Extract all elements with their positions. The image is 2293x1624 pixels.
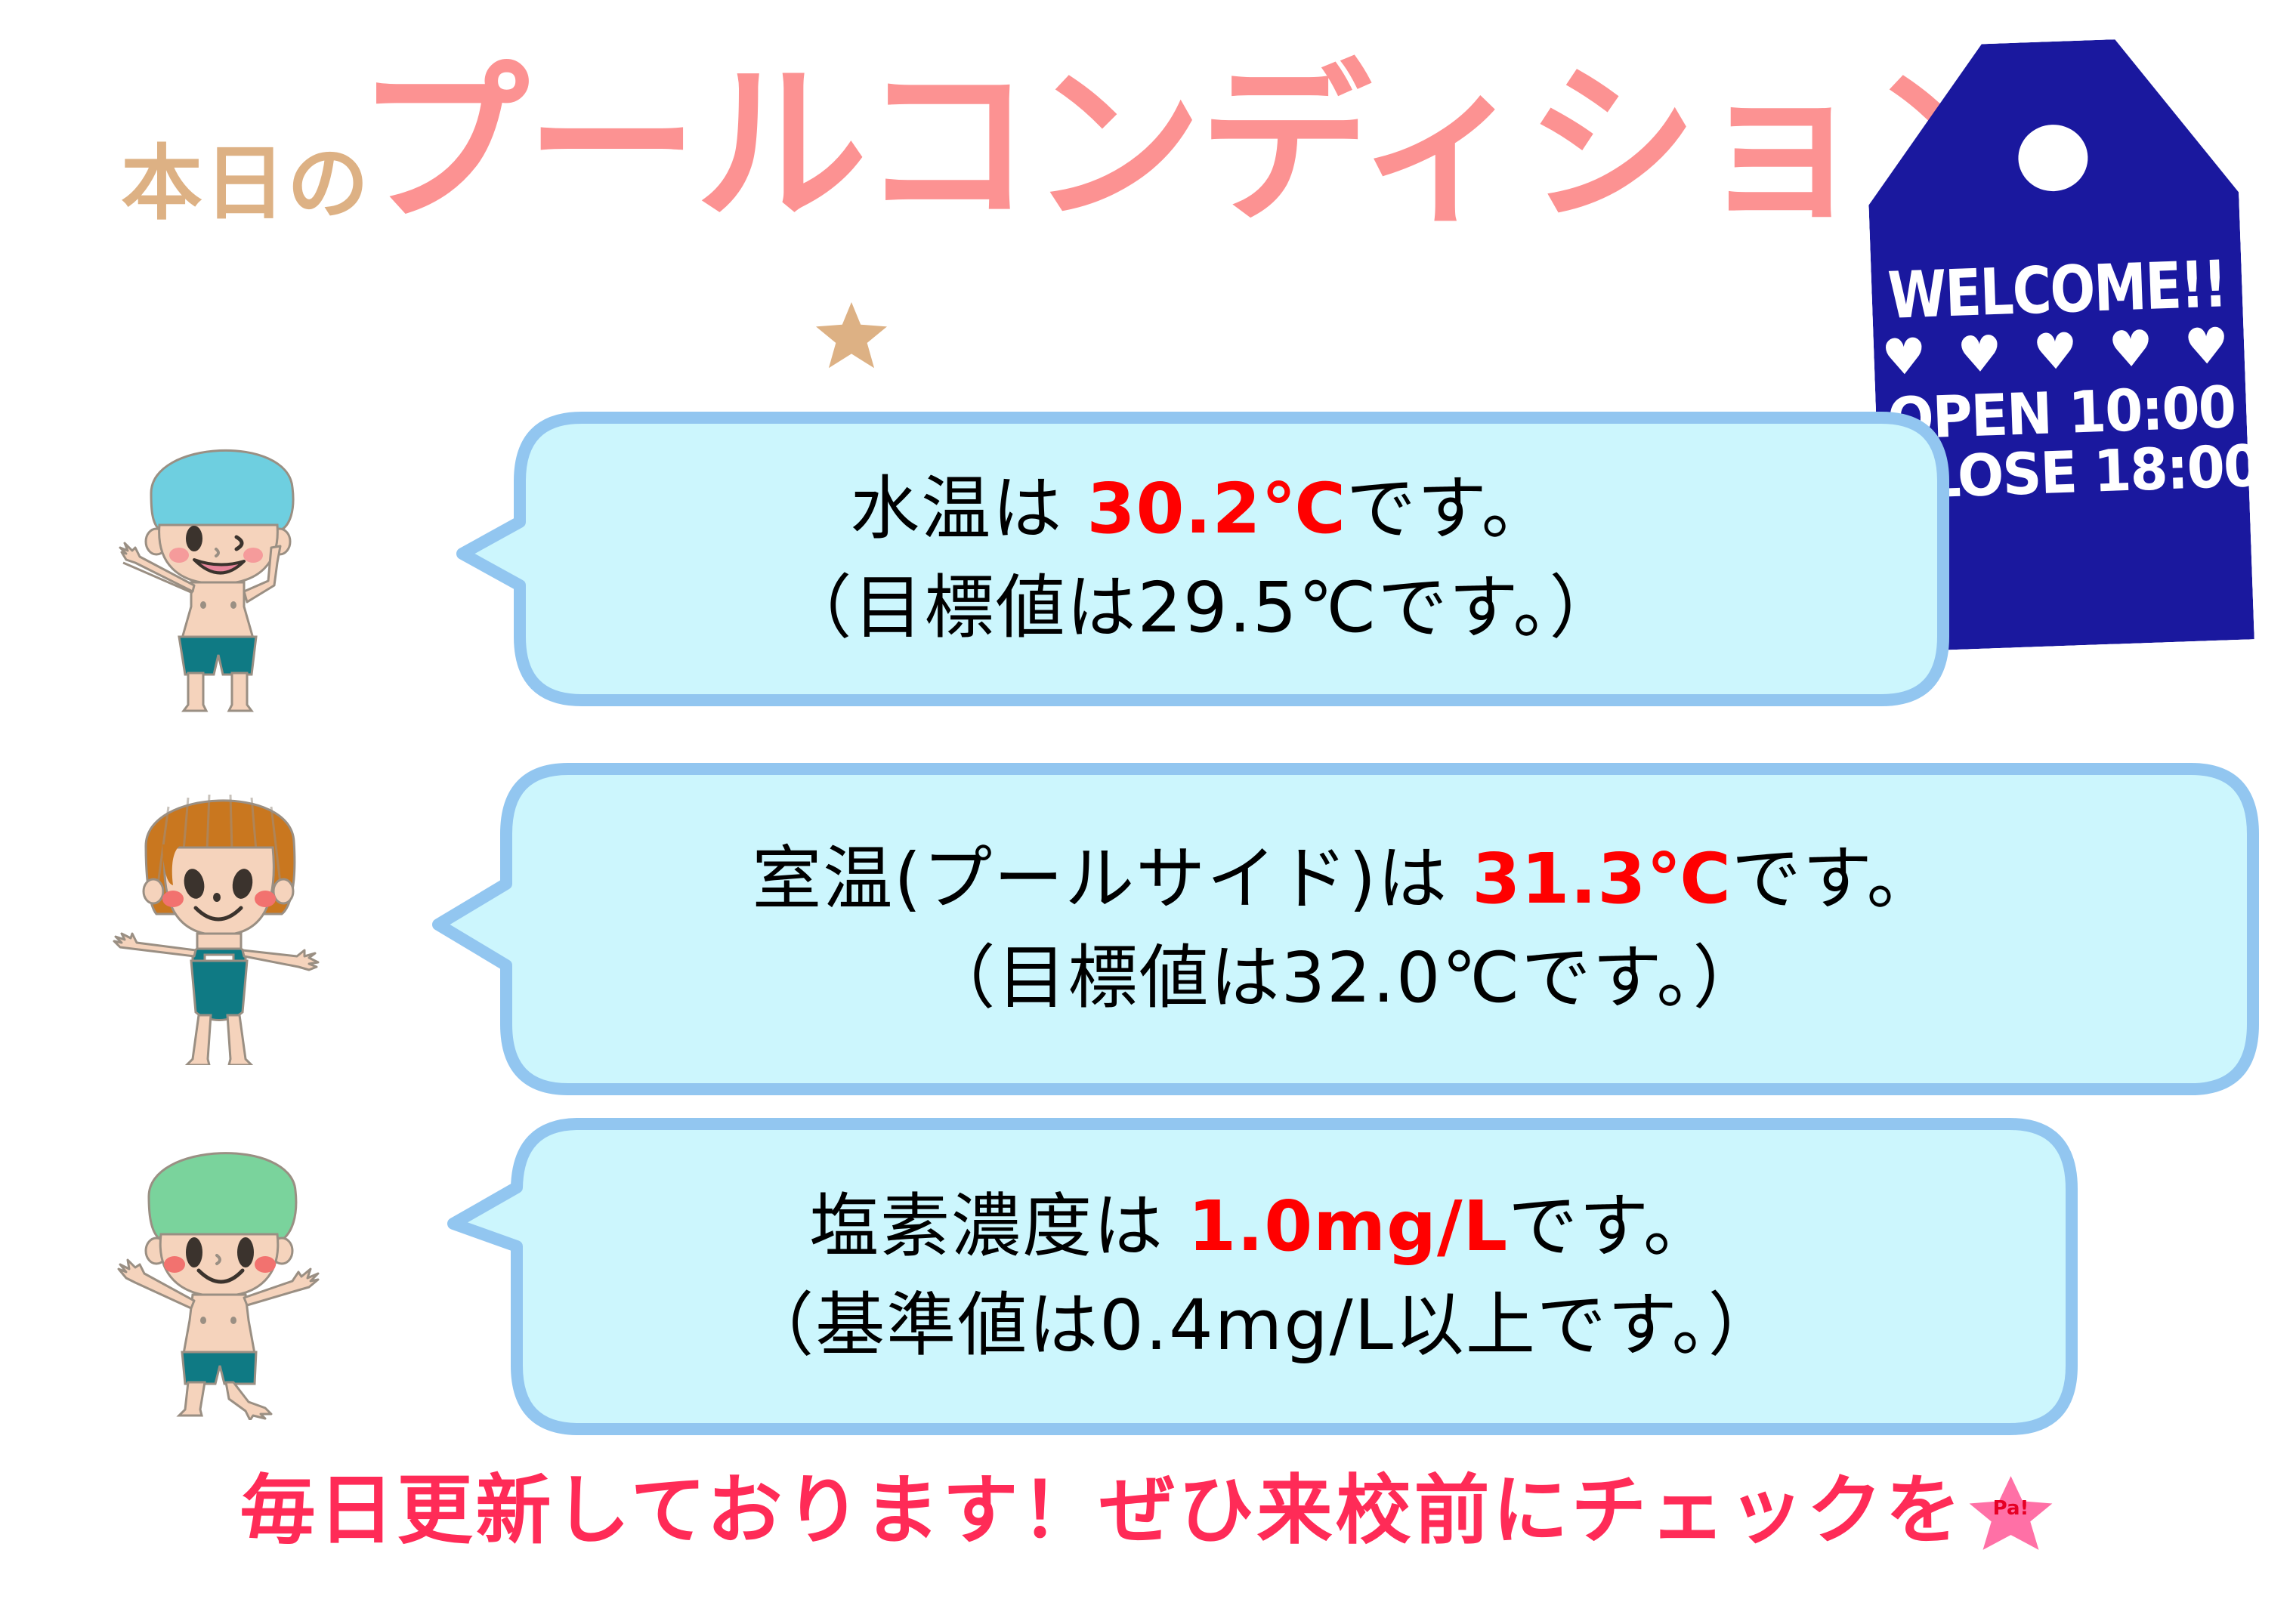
title-main: プールコンディション (357, 59, 2033, 231)
speech-bubble-chlorine: 塩素濃度は 1.0mg/Lです。 （基準値は0.4mg/L以上です。） (446, 1118, 2078, 1435)
footer-note: 毎日更新しております！ぜひ来校前にチェックをPa! (0, 1449, 2293, 1558)
star-icon (816, 302, 887, 370)
title-prefix: 本日の (121, 144, 370, 225)
girl-brown-hair-illustration (110, 763, 329, 1065)
speech-bubble-water-temp: 水温は 30.2℃です。 （目標値は29.5℃です。） (453, 412, 1949, 706)
character-boy-green-cap (110, 1118, 329, 1420)
bubble-shape (446, 1118, 2078, 1435)
bubble-shape (453, 412, 1949, 706)
bubble-shape (431, 763, 2259, 1095)
boy-blue-cap-illustration (110, 412, 329, 714)
character-boy-blue-cap (110, 412, 329, 714)
character-girl-brown-hair (110, 763, 329, 1065)
page-title: 本日の プールコンディション (113, 53, 1760, 272)
star-icon: Pa! (1969, 1474, 2054, 1553)
star-label: Pa! (1969, 1497, 2054, 1520)
footer-text: 毎日更新しております！ぜひ来校前にチェックを (240, 1466, 1964, 1555)
speech-bubble-room-temp: 室温(プールサイド)は 31.3℃です。 （目標値は32.0℃です。） (431, 763, 2259, 1095)
boy-green-cap-illustration (110, 1118, 329, 1420)
